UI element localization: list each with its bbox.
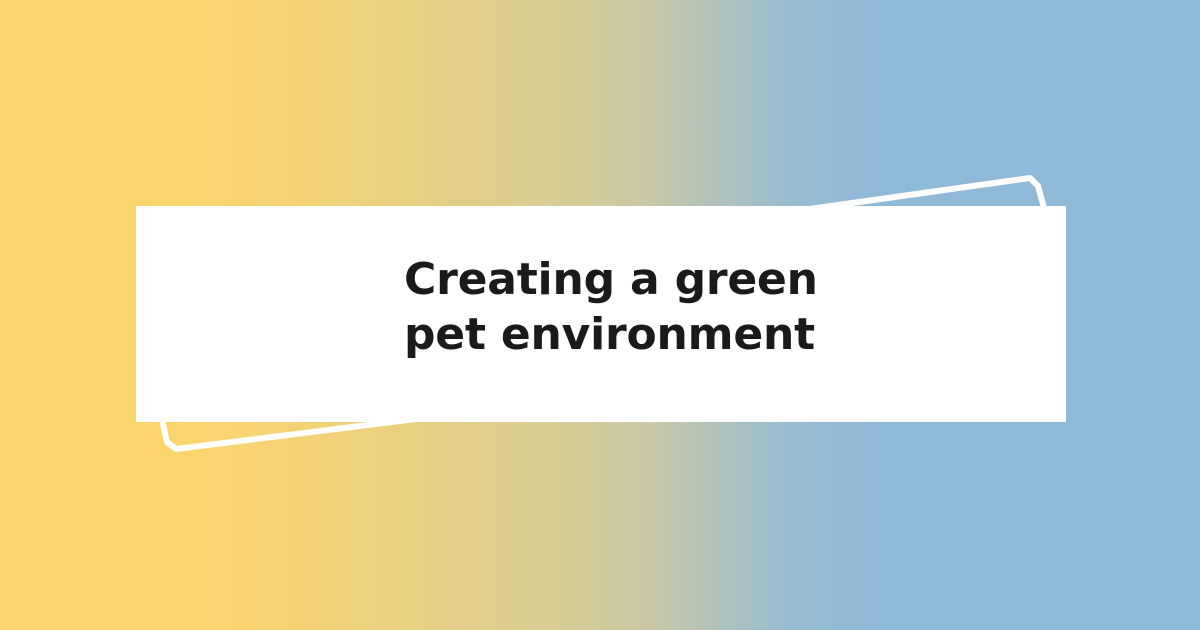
banner-graphic: Creating a green pet environment <box>0 0 1200 630</box>
headline-card: Creating a green pet environment <box>136 206 1066 422</box>
page-title: Creating a green pet environment <box>404 252 1024 362</box>
